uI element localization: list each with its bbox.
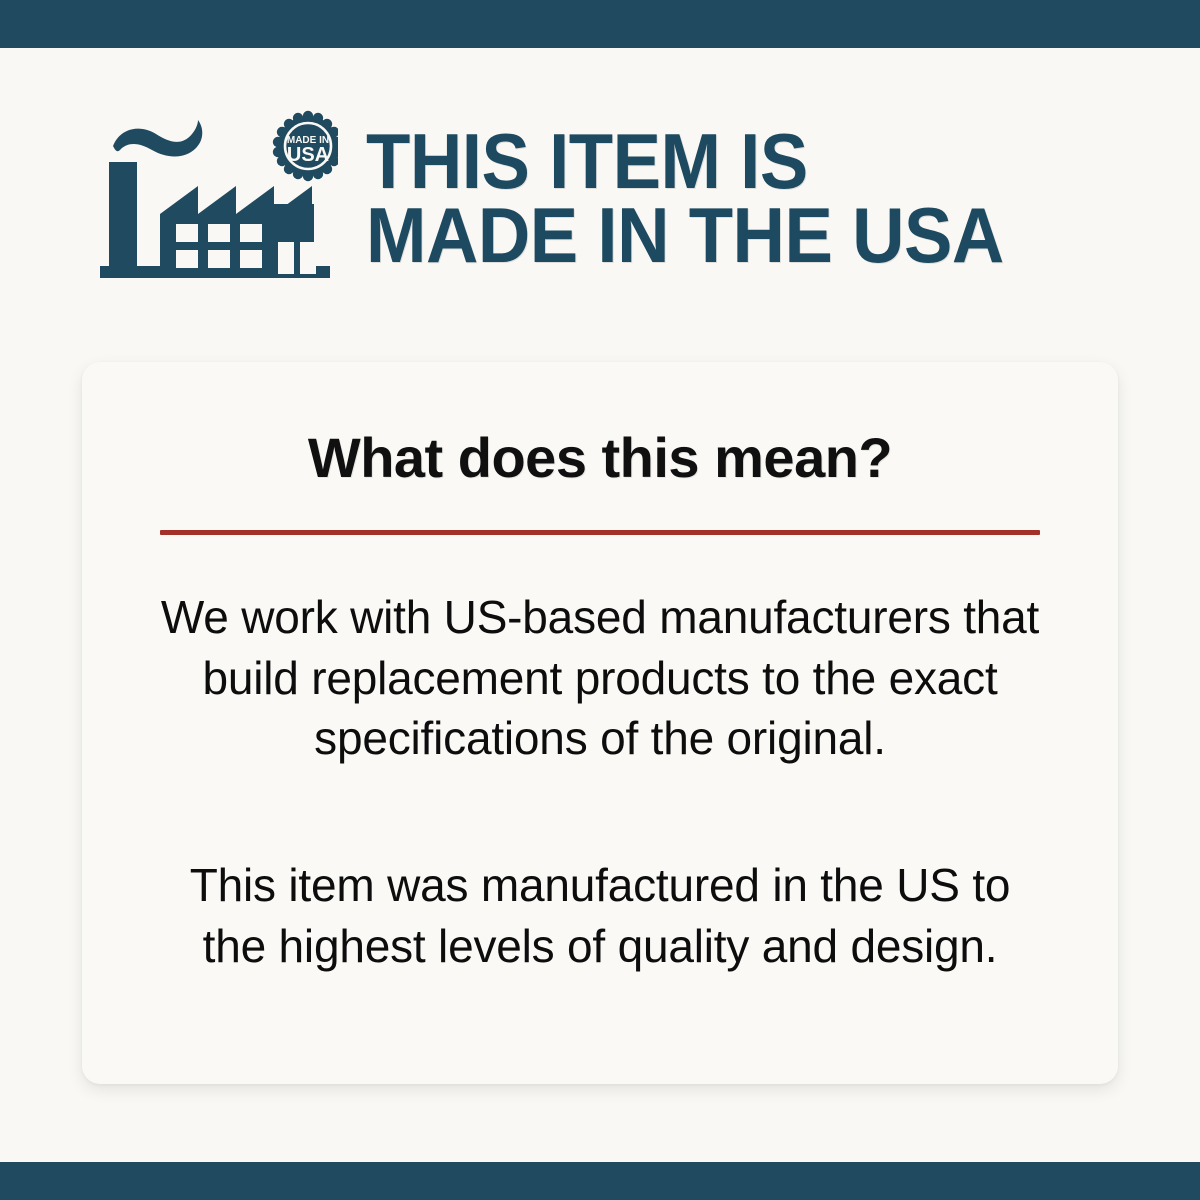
info-card: What does this mean? We work with US-bas…: [82, 362, 1118, 1084]
title-line-2: MADE IN THE USA: [366, 198, 1004, 272]
page-canvas: MADE IN USA THIS ITEM IS MADE IN THE USA…: [0, 48, 1200, 1162]
card-paragraph-1: We work with US-based manufacturers that…: [160, 535, 1040, 769]
header: MADE IN USA THIS ITEM IS MADE IN THE USA: [0, 98, 1200, 298]
factory-made-in-usa-icon: MADE IN USA: [100, 108, 338, 288]
page-title: THIS ITEM IS MADE IN THE USA: [366, 124, 1052, 272]
title-line-1: THIS ITEM IS: [366, 124, 1004, 198]
bottom-accent-bar: [0, 1162, 1200, 1200]
card-heading: What does this mean?: [82, 362, 1118, 486]
card-paragraph-2: This item was manufactured in the US to …: [160, 769, 1040, 976]
badge-line-2-text: USA: [287, 144, 329, 166]
top-accent-bar: [0, 0, 1200, 48]
